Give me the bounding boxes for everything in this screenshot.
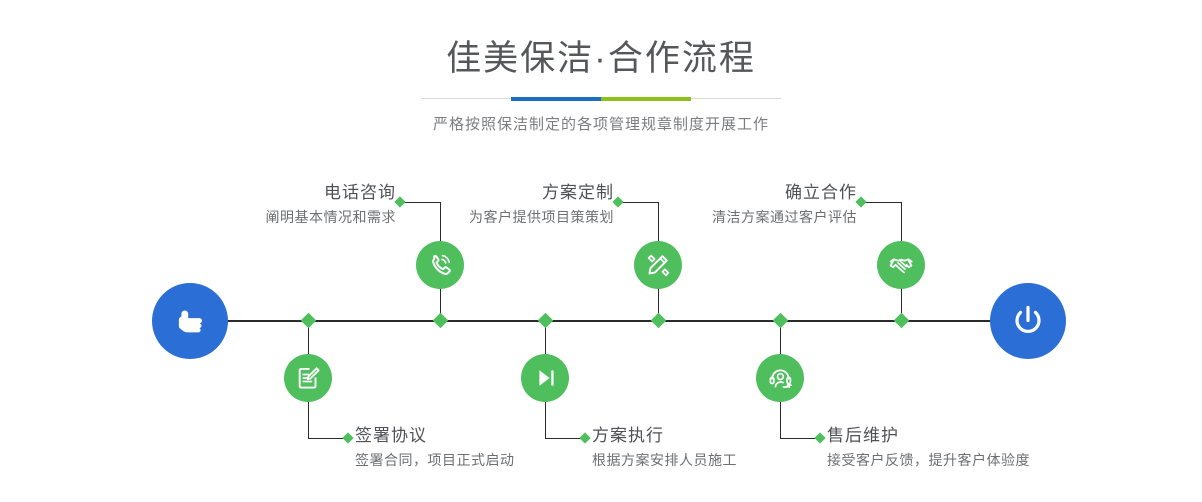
step-icon-6[interactable] <box>756 354 804 402</box>
step-icon-1[interactable] <box>416 241 464 289</box>
page-title: 佳美保洁·合作流程 <box>0 0 1202 80</box>
document-edit-icon <box>294 364 322 392</box>
axis-marker-3 <box>538 313 554 329</box>
step-title-3: 方案定制 <box>469 182 614 204</box>
step-title-5: 确立合作 <box>712 182 857 204</box>
customer-service-icon <box>766 364 794 392</box>
axis-marker-2 <box>433 313 449 329</box>
play-execute-icon <box>531 364 559 392</box>
label-bullet-step-3 <box>612 196 623 207</box>
step-label-6: 售后维护 接受客户反馈，提升客户体验度 <box>827 425 1030 470</box>
step-title-6: 售后维护 <box>827 425 1030 447</box>
step-label-5: 确立合作 清洁方案通过客户评估 <box>712 182 857 227</box>
divider-segment-blue <box>511 97 601 101</box>
axis-marker-1 <box>301 313 317 329</box>
label-bullet-step-1 <box>394 196 405 207</box>
label-bullet-step-4 <box>579 432 590 443</box>
step-title-1: 电话咨询 <box>266 182 397 204</box>
axis-marker-4 <box>651 313 667 329</box>
page-subtitle: 严格按照保洁制定的各项管理规章制度开展工作 <box>0 114 1202 136</box>
pointing-hand-icon <box>170 301 210 341</box>
step-icon-5[interactable] <box>877 241 925 289</box>
timeline-axis <box>155 320 1050 322</box>
step-desc-1: 阐明基本情况和需求 <box>266 207 397 227</box>
connector-step-5-horizontal <box>861 202 901 203</box>
label-bullet-step-6 <box>814 432 825 443</box>
step-desc-4: 根据方案安排人员施工 <box>592 450 737 470</box>
cooperation-flow-infographic: 佳美保洁·合作流程 严格按照保洁制定的各项管理规章制度开展工作 <box>0 0 1202 502</box>
step-title-4: 方案执行 <box>592 425 737 447</box>
step-desc-2: 签署合同，项目正式启动 <box>355 450 515 470</box>
step-icon-4[interactable] <box>521 354 569 402</box>
title-divider <box>421 94 781 104</box>
connector-step-3-horizontal <box>618 202 658 203</box>
axis-marker-5 <box>773 313 789 329</box>
step-desc-5: 清洁方案通过客户评估 <box>712 207 857 227</box>
step-icon-3[interactable] <box>634 241 682 289</box>
flow-start-node[interactable] <box>152 283 228 359</box>
divider-segment-green <box>601 97 691 101</box>
header: 佳美保洁·合作流程 严格按照保洁制定的各项管理规章制度开展工作 <box>0 0 1202 136</box>
step-label-2: 签署协议 签署合同，项目正式启动 <box>355 425 515 470</box>
pencil-ruler-icon <box>644 251 672 279</box>
step-label-3: 方案定制 为客户提供项目策策划 <box>469 182 614 227</box>
label-bullet-step-5 <box>855 196 866 207</box>
step-desc-6: 接受客户反馈，提升客户体验度 <box>827 450 1030 470</box>
phone-call-icon <box>426 251 454 279</box>
step-label-1: 电话咨询 阐明基本情况和需求 <box>266 182 397 227</box>
power-icon <box>1007 300 1049 342</box>
label-bullet-step-2 <box>342 432 353 443</box>
flow-end-node[interactable] <box>990 283 1066 359</box>
step-desc-3: 为客户提供项目策策划 <box>469 207 614 227</box>
axis-marker-6 <box>894 313 910 329</box>
connector-step-1-horizontal <box>400 202 440 203</box>
step-title-2: 签署协议 <box>355 425 515 447</box>
step-icon-2[interactable] <box>284 354 332 402</box>
step-label-4: 方案执行 根据方案安排人员施工 <box>592 425 737 470</box>
handshake-icon <box>887 251 915 279</box>
timeline: 电话咨询 阐明基本情况和需求 签署协议 签署合同，项目正式启动 <box>0 150 1202 502</box>
